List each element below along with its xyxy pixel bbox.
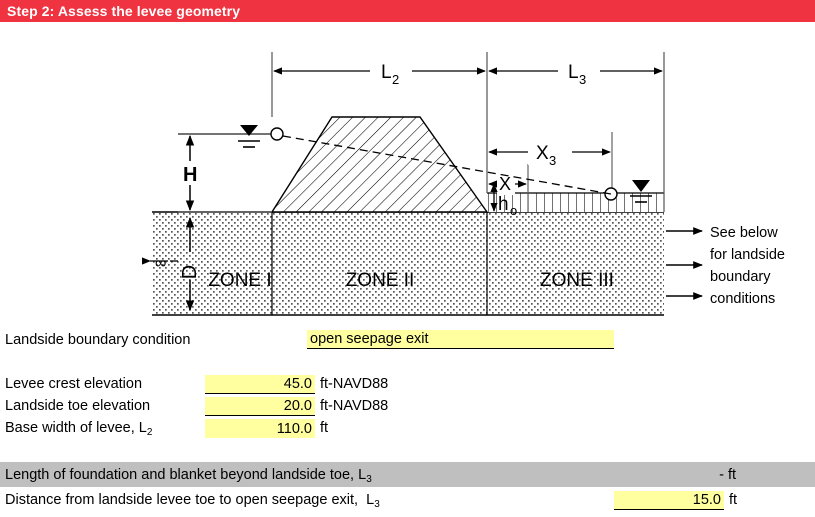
dimension-L2: L 2 (274, 58, 485, 87)
form-area: Landside boundary condition open seepage… (0, 322, 815, 517)
svg-text:D: D (179, 265, 201, 279)
seepage-exit-label-text: Distance from landside levee toe to open… (5, 492, 358, 508)
base-width-input[interactable]: 110.0 (205, 419, 315, 438)
base-width-label: Base width of levee, L2 (5, 420, 152, 436)
step-title: Step 2: Assess the levee geometry (7, 3, 240, 19)
svg-text:H: H (183, 164, 197, 186)
dimension-L3: L 3 (489, 58, 662, 87)
base-width-label-sub: 2 (147, 427, 153, 438)
foundation-length-label: Length of foundation and blanket beyond … (5, 467, 372, 483)
levee-crest-elevation-label: Levee crest elevation (5, 376, 142, 392)
dimension-X3: X 3 (489, 139, 610, 168)
row-base-width: Base width of levee, L2 (5, 420, 152, 436)
landside-toe-elevation-label: Landside toe elevation (5, 398, 150, 414)
seepage-exit-label: Distance from landside levee toe to open… (5, 492, 380, 508)
dimension-H: H (178, 134, 272, 212)
step-header-banner: Step 2: Assess the levee geometry (0, 0, 815, 22)
levee-embankment (272, 117, 487, 212)
row-levee-crest-elevation: Levee crest elevation (5, 376, 142, 392)
row-seepage-exit-distance: Distance from landside levee toe to open… (5, 492, 380, 508)
landside-toe-elevation-unit: ft-NAVD88 (317, 398, 388, 414)
boundary-condition-value: open seepage exit (310, 331, 429, 347)
note-line-4: conditions (710, 291, 775, 307)
seepage-exit-unit: ft (726, 492, 737, 508)
levee-crest-elevation-value: 45.0 (284, 376, 312, 392)
svg-text:X: X (499, 174, 511, 194)
note-line-3: boundary (710, 269, 771, 285)
svg-text:X: X (536, 143, 549, 164)
foundation-layer (152, 212, 664, 315)
zone-label-1: ZONE I (208, 270, 271, 291)
seepage-exit-label-sym: L (366, 492, 374, 508)
seepage-exit-input[interactable]: 15.0 (614, 491, 724, 510)
levee-crest-elevation-input[interactable]: 45.0 (205, 375, 315, 394)
boundary-condition-label: Landside boundary condition (5, 332, 190, 348)
landside-note-arrows (666, 231, 702, 296)
foundation-length-value: - (614, 467, 724, 483)
seepage-exit-label-sub: 3 (374, 499, 380, 510)
svg-text:3: 3 (579, 72, 586, 87)
row-foundation-length: Length of foundation and blanket beyond … (0, 462, 815, 487)
foundation-length-label-sub: 3 (366, 474, 372, 485)
svg-text:3: 3 (549, 153, 556, 168)
note-line-2: for landside (710, 247, 785, 263)
note-line-1: See below (710, 225, 778, 241)
riverside-water-table (178, 125, 283, 147)
landside-toe-elevation-input[interactable]: 20.0 (205, 397, 315, 416)
svg-text:o: o (510, 203, 517, 218)
levee-crest-elevation-unit: ft-NAVD88 (317, 376, 388, 392)
zone-label-2: ZONE II (346, 270, 415, 291)
row-boundary-condition: Landside boundary condition (5, 332, 190, 348)
boundary-condition-input[interactable]: open seepage exit (307, 330, 614, 349)
foundation-length-unit: ft (728, 467, 736, 483)
row-landside-toe-elevation: Landside toe elevation (5, 398, 150, 414)
zone-label-3: ZONE III (540, 270, 614, 291)
svg-text:2: 2 (392, 72, 399, 87)
svg-text:L: L (381, 62, 392, 83)
base-width-value: 110.0 (277, 421, 312, 437)
svg-text:h: h (498, 194, 509, 215)
seepage-exit-value: 15.0 (693, 492, 721, 508)
foundation-length-label-text: Length of foundation and blanket beyond … (5, 467, 366, 483)
svg-text:∞: ∞ (155, 255, 166, 272)
base-width-label-text: Base width of levee, L (5, 420, 147, 436)
levee-geometry-diagram: L 2 L 3 X 3 X h o H D ∞ (0, 24, 815, 319)
base-width-unit: ft (317, 420, 328, 436)
landside-toe-elevation-value: 20.0 (284, 398, 312, 414)
svg-text:L: L (568, 62, 579, 83)
